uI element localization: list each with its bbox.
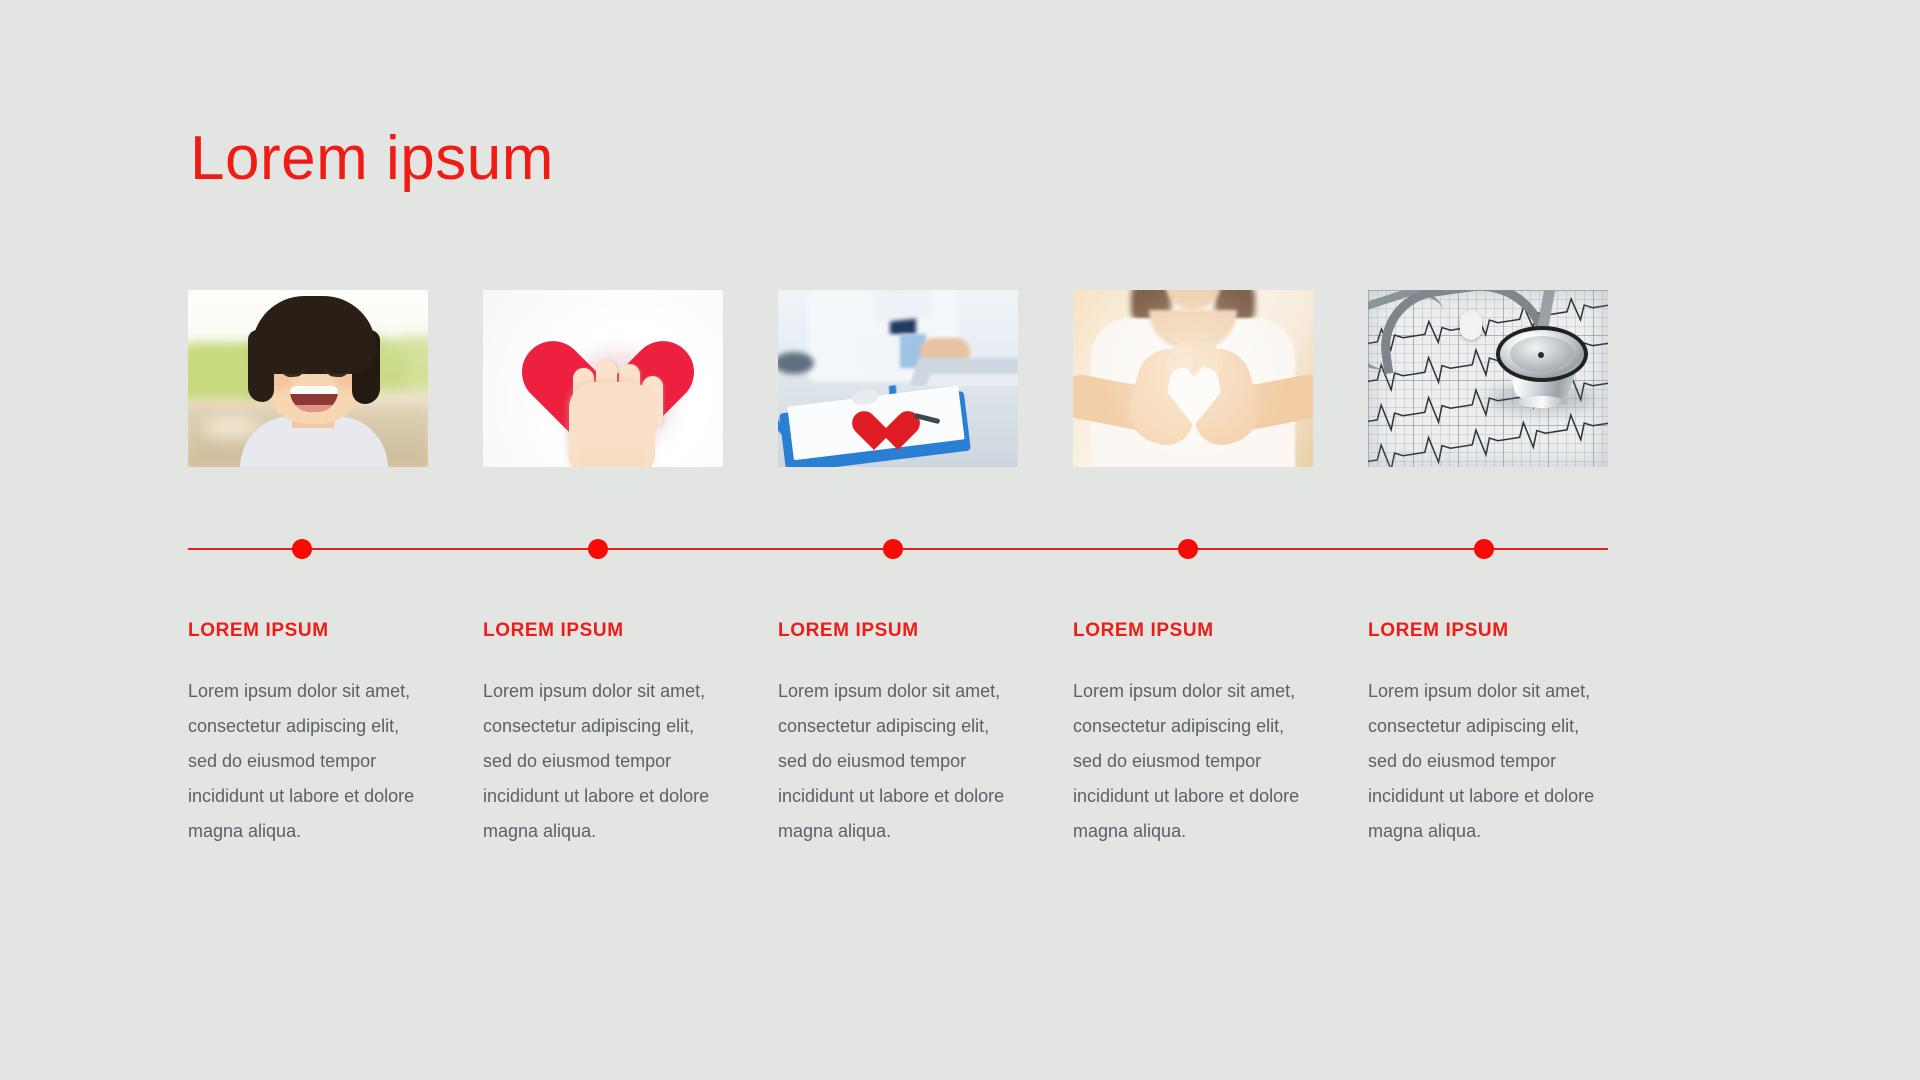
text-column-5: LOREM IPSUM Lorem ipsum dolor sit amet, … [1368,620,1663,849]
image-row [188,290,1608,467]
timeline-dot-1[interactable] [292,539,312,559]
timeline-track [188,548,1608,550]
column-title: LOREM IPSUM [778,620,1073,642]
decor-child-hair [252,296,376,374]
column-title: LOREM IPSUM [1368,620,1663,642]
column-body: Lorem ipsum dolor sit amet, consectetur … [1073,674,1301,849]
column-body: Lorem ipsum dolor sit amet, consectetur … [483,674,711,849]
column-title: LOREM IPSUM [483,620,778,642]
timeline-dot-5[interactable] [1474,539,1494,559]
column-title: LOREM IPSUM [188,620,483,642]
decor-vignette [1368,290,1608,467]
slide-canvas: Lorem ipsum [0,0,1920,1080]
text-column-2: LOREM IPSUM Lorem ipsum dolor sit amet, … [483,620,778,849]
photo-child-scene [188,290,428,467]
column-body: Lorem ipsum dolor sit amet, consectetur … [778,674,1006,849]
column-body: Lorem ipsum dolor sit amet, consectetur … [188,674,416,849]
decor-red-heart-small [870,412,910,452]
photo-stethoscope-ecg-icon[interactable] [1368,290,1608,467]
page-title: Lorem ipsum [190,128,554,190]
photo-hands-heart-icon[interactable] [1073,290,1313,467]
column-title: LOREM IPSUM [1073,620,1368,642]
decor-warm-glow [1073,290,1313,467]
photo-doctor-scene [778,290,1018,467]
text-column-4: LOREM IPSUM Lorem ipsum dolor sit amet, … [1073,620,1368,849]
photo-heart-hand-icon[interactable] [483,290,723,467]
timeline-dot-4[interactable] [1178,539,1198,559]
decor-child-mouth [290,386,338,412]
photo-heart-hand-scene [483,290,723,467]
text-columns: LOREM IPSUM Lorem ipsum dolor sit amet, … [188,620,1628,849]
photo-stethoscope-ecg-scene [1368,290,1608,467]
text-column-1: LOREM IPSUM Lorem ipsum dolor sit amet, … [188,620,483,849]
column-body: Lorem ipsum dolor sit amet, consectetur … [1368,674,1596,849]
text-column-3: LOREM IPSUM Lorem ipsum dolor sit amet, … [778,620,1073,849]
timeline-dot-3[interactable] [883,539,903,559]
photo-child-icon[interactable] [188,290,428,467]
photo-hands-heart-scene [1073,290,1313,467]
decor-wrist [579,450,645,467]
timeline-dot-2[interactable] [588,539,608,559]
photo-doctor-icon[interactable] [778,290,1018,467]
